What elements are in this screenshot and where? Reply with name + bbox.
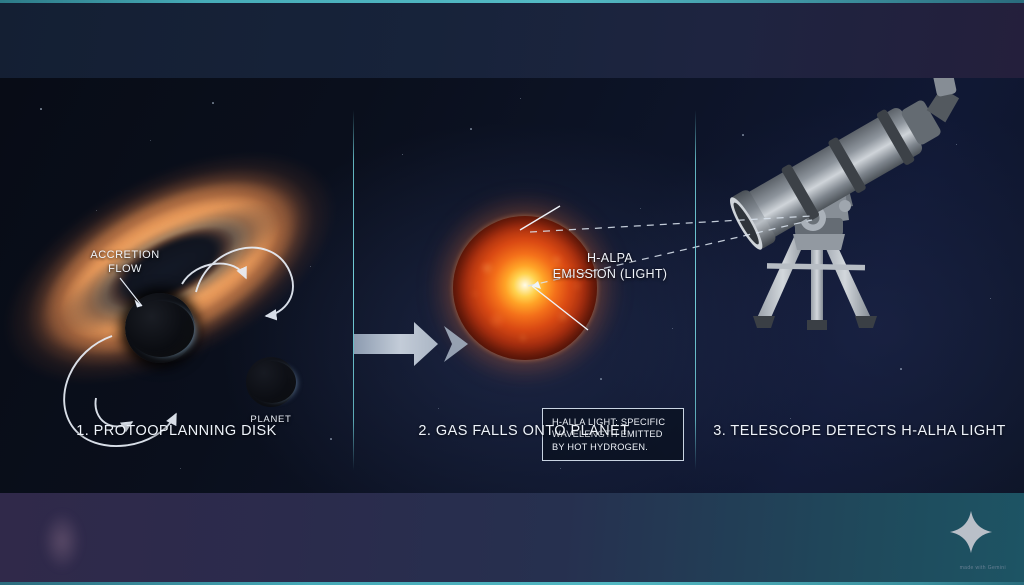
watermark-caption: made with Gemini <box>960 565 1006 571</box>
bottom-border-band: made with Gemini <box>0 493 1024 585</box>
h-alpha-emission-label-line2: EMISSION (LIGHT) <box>553 267 668 281</box>
info-box-line3: BY HOT HYDROGEN. <box>552 441 674 453</box>
h-alpha-emission-label: H-ALPA EMISSION (LIGHT) <box>520 250 700 282</box>
diagram-stage: ACCRETION FLOW PLANET <box>0 0 1024 585</box>
main-illustration-panel: ACCRETION FLOW PLANET <box>0 78 1024 493</box>
panel-3-caption: 3. TELESCOPE DETECTS H-ALHA LIGHT <box>695 423 1024 439</box>
process-arrow-icon <box>352 318 474 374</box>
top-border-band <box>0 0 1024 78</box>
panel-divider-1 <box>353 110 354 470</box>
panel-1-caption: 1. PROTOOPLANNING DISK <box>0 423 353 439</box>
hot-planet-rim-shadow <box>453 216 597 360</box>
telescope-focus-knob <box>839 200 851 212</box>
h-alpha-emission-label-line1: H-ALPA <box>587 251 633 265</box>
panel-2-caption: 2. GAS FALLS ONTO PLANET <box>353 423 695 439</box>
accretion-flow-label-line1: ACCRETION <box>90 249 159 261</box>
accretion-flow-label-line2: FLOW <box>108 263 142 275</box>
four-point-sparkle-icon <box>948 509 994 555</box>
panel-divider-2 <box>695 110 696 470</box>
accretion-flow-label: ACCRETION FLOW <box>60 248 190 276</box>
bottom-band-glow <box>42 511 82 571</box>
